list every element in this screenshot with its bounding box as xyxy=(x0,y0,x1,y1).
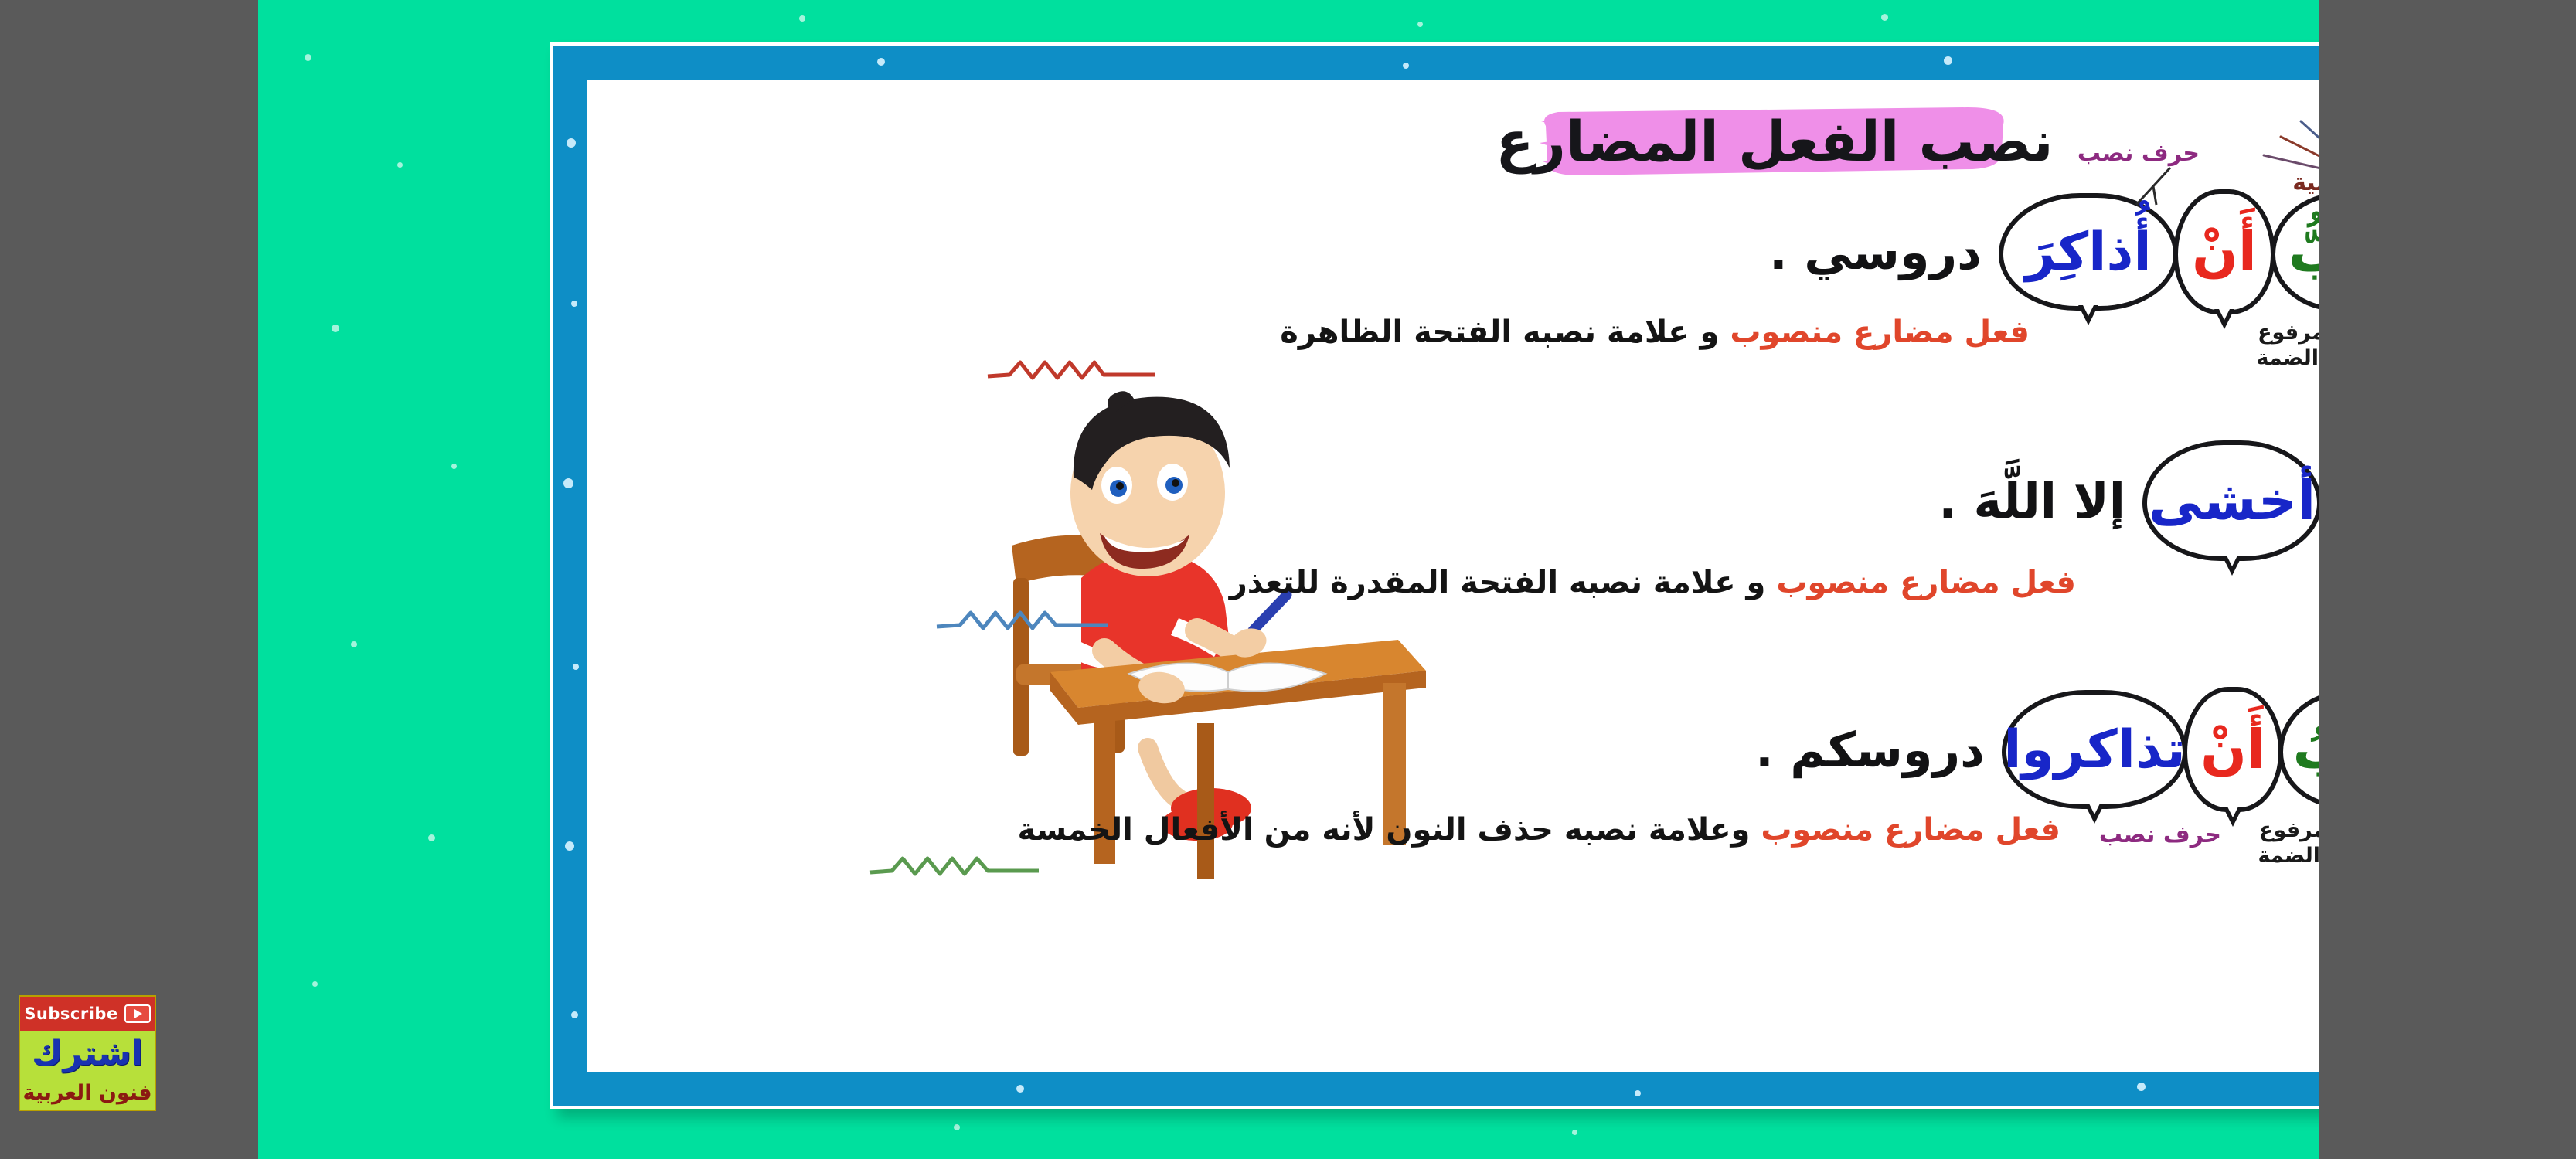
sparkle xyxy=(1635,1090,1641,1096)
row-1-tail-text: دروسي . xyxy=(1769,224,1982,280)
bubble-verb-marfu-3[interactable]: يجبُ xyxy=(2278,691,2319,808)
zigzag-underline-1 xyxy=(986,358,1156,384)
explanation-3: فعل مضارع منصوب وعلامة نصبه حذف النون لأ… xyxy=(1018,812,2061,848)
side-caption-1-line1: فعل مضارع مرفوع xyxy=(2238,321,2319,346)
side-caption-3: فعل مضارع مرفوع وعلامة رفعه الضمة xyxy=(2240,818,2319,869)
bubble-verb-mansub-2[interactable]: أخشى xyxy=(2142,440,2319,561)
bubble-verb-mansub-3[interactable]: تذاكروا xyxy=(2002,690,2187,809)
side-caption-3-line2: وعلامة رفعه الضمة xyxy=(2240,844,2319,869)
sparkle xyxy=(571,1011,578,1018)
explanation-3-highlight: فعل مضارع منصوب xyxy=(1761,812,2060,848)
sparkle xyxy=(1403,63,1409,69)
sparkle xyxy=(332,325,339,332)
slide-stage: فنون العربية محمد حسين نصب الفعل المضا xyxy=(258,0,2319,1159)
row-3-tail-text: دروسكم . xyxy=(1755,722,1985,778)
side-caption-1: فعل مضارع مرفوع وعلامة رفعه الضمة xyxy=(2238,321,2319,372)
example-row-1: أُحِبُّ أَنْ أُذاكِرَ دروسي . xyxy=(1769,194,2319,310)
explanation-3-rest: وعلامة نصبه حذف النون لأنه من الأفعال ال… xyxy=(1018,812,1761,848)
bubble-harf-nasb-3[interactable]: أَنْ xyxy=(2183,687,2283,812)
sparkle xyxy=(1016,1085,1024,1093)
explanation-2-rest: و علامة نصبه الفتحة المقدرة للتعذر xyxy=(1230,565,1777,600)
explanation-1-rest: و علامة نصبه الفتحة الظاهرة xyxy=(1280,314,1730,350)
subscribe-top-bar[interactable]: Subscribe xyxy=(20,997,155,1031)
example-row-3: يجبُ أَنْ تذاكروا دروسكم . xyxy=(1755,692,2319,807)
bubble-harf-nasb-1[interactable]: أَنْ xyxy=(2173,189,2275,314)
explanation-1: فعل مضارع منصوب و علامة نصبه الفتحة الظا… xyxy=(1280,314,2030,350)
sparkle xyxy=(451,464,457,469)
title-block: نصب الفعل المضارع xyxy=(1535,97,2014,189)
slide-card: فنون العربية محمد حسين نصب الفعل المضا xyxy=(550,42,2319,1109)
sparkle xyxy=(312,981,318,987)
explanation-1-highlight: فعل مضارع منصوب xyxy=(1730,314,2030,350)
sparkle xyxy=(877,58,885,66)
explanation-2-highlight: فعل مضارع منصوب xyxy=(1776,565,2076,600)
sparkle xyxy=(428,834,435,841)
sparkle xyxy=(1944,56,1952,65)
sparkle xyxy=(397,162,403,168)
sparkle xyxy=(1572,1130,1577,1135)
sparkle xyxy=(2137,1083,2146,1091)
bubble-verb-mansub-1[interactable]: أُذاكِرَ xyxy=(1999,193,2178,311)
zigzag-underline-2 xyxy=(935,608,1110,634)
bubble-verb-marfu-1[interactable]: أُحِبُّ xyxy=(2271,192,2319,311)
sparkle xyxy=(567,138,576,148)
subscribe-english-label: Subscribe xyxy=(24,1004,117,1023)
sparkle xyxy=(571,301,577,307)
sparkle xyxy=(799,15,805,22)
sparkle xyxy=(565,841,574,851)
sparkle xyxy=(1417,22,1423,27)
side-caption-1-line2: وعلامة رفعه الضمة xyxy=(2238,346,2319,372)
sparkle xyxy=(305,54,311,61)
youtube-play-icon xyxy=(124,1004,151,1023)
sparkle xyxy=(351,641,357,647)
zigzag-underline-3 xyxy=(869,854,1040,880)
subscribe-brand-label: فنون العربية xyxy=(20,1076,155,1110)
harf-nasb-label-3: حرف نصب xyxy=(2099,821,2221,848)
harf-nasb-label-1: حرف نصب xyxy=(2077,140,2200,167)
side-caption-3-line1: فعل مضارع مرفوع xyxy=(2240,818,2319,844)
example-row-2: لَنْ أخشى إلا اللَّهَ . xyxy=(1938,443,2319,559)
sparkle xyxy=(563,478,573,488)
logo-brand-text: فنون العربية xyxy=(2248,169,2319,196)
explanation-2: فعل مضارع منصوب و علامة نصبه الفتحة المق… xyxy=(1230,565,2076,600)
sparkle xyxy=(573,664,579,670)
harf-nasb-leader-line-1 xyxy=(2130,166,2176,208)
sparkle xyxy=(1881,14,1888,21)
subscribe-arabic-label: اشترك xyxy=(20,1031,155,1076)
sparkle xyxy=(954,1124,960,1130)
page-title: نصب الفعل المضارع xyxy=(1535,107,2014,175)
subscribe-badge[interactable]: Subscribe اشترك فنون العربية xyxy=(19,995,156,1111)
slide-content-area: فنون العربية محمد حسين نصب الفعل المضا xyxy=(587,80,2319,1072)
row-2-tail-text: إلا اللَّهَ . xyxy=(1938,473,2125,529)
